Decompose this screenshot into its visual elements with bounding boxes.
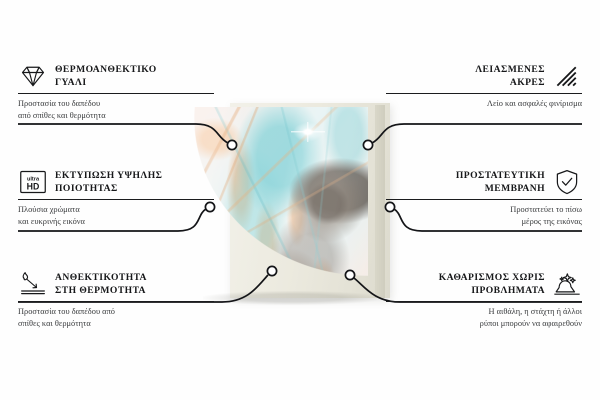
feature-title: ΚΑΘΑΡΙΣΜΟΣ ΧΩΡΙΣ ΠΡΟΒΛΗΜΑΤΑ [439, 271, 545, 297]
title-line-1: ΚΑΘΑΡΙΣΜΟΣ ΧΩΡΙΣ [439, 271, 545, 284]
diamond-icon [18, 62, 48, 90]
subtitle-line-1: Προστατεύει το πίσω [386, 204, 582, 216]
feature-subtitle: Προστασία του δαπέδου από σπίθες και θερ… [18, 98, 214, 122]
feature-header: ultra HD ΕΚΤΥΠΩΣΗ ΥΨΗΛΗΣ ΠΟΙΟΤΗΤΑΣ [18, 168, 214, 196]
subtitle-line-1: Πλούσια χρώματα [18, 204, 214, 216]
feature-subtitle: Προστασία του δαπέδου από σπίθες και θερ… [18, 306, 214, 330]
flame-deflect-icon [18, 270, 48, 298]
divider [386, 199, 582, 200]
shield-check-icon [552, 168, 582, 196]
feature-subtitle: Η αιθάλη, η στάχτη ή άλλοι ρύποι μπορούν… [386, 306, 582, 330]
feature-smoothed-edges: ΛΕΙΑΣΜΕΝΕΣ ΑΚΡΕΣ Λείο και ασφαλές φινίρι… [386, 62, 582, 110]
panel-backing-edge [375, 105, 385, 298]
title-line-2: ΜΕΜΒΡΑΝΗ [485, 182, 545, 195]
subtitle-line-2: και ευκρινής εικόνα [18, 216, 214, 228]
glare-highlight-icon [291, 121, 325, 143]
feature-title: ΠΡΟΣΤΑΤΕΥΤΙΚΗ ΜΕΜΒΡΑΝΗ [456, 169, 545, 195]
feature-title: ΑΝΘΕΚΤΙΚΟΤΗΤΑ ΣΤΗ ΘΕΡΜΟΤΗΤΑ [55, 271, 147, 297]
infographic-canvas: ΘΕΡΜΟΑΝΘΕΚΤΙΚΟ ΓΥΑΛΙ Προστασία του δαπέδ… [0, 0, 600, 400]
ultra-hd-icon: ultra HD [18, 168, 48, 196]
title-line-2: ΑΚΡΕΣ [510, 76, 545, 89]
title-line-1: ΑΝΘΕΚΤΙΚΟΤΗΤΑ [55, 271, 147, 284]
feature-easy-cleaning: ΚΑΘΑΡΙΣΜΟΣ ΧΩΡΙΣ ΠΡΟΒΛΗΜΑΤΑ Η αιθάλη, η … [386, 270, 582, 330]
sponge-sparkle-icon [552, 270, 582, 298]
divider [18, 301, 214, 302]
subtitle-line-2: ρύποι μπορούν να αφαιρεθούν [386, 318, 582, 330]
title-line-2: ΓΥΑΛΙ [55, 76, 157, 89]
divider [18, 93, 214, 94]
subtitle-line-2: μέρος της εικόνας [386, 216, 582, 228]
subtitle-line-1: Προστασία του δαπέδου [18, 98, 214, 110]
feature-header: ΘΕΡΜΟΑΝΘΕΚΤΙΚΟ ΓΥΑΛΙ [18, 62, 214, 90]
feature-subtitle: Λείο και ασφαλές φινίρισμα [386, 98, 582, 110]
feature-header: ΠΡΟΣΤΑΤΕΥΤΙΚΗ ΜΕΜΒΡΑΝΗ [386, 168, 582, 196]
divider [386, 93, 582, 94]
diagonal-stripes-icon [552, 62, 582, 90]
title-line-1: ΛΕΙΑΣΜΕΝΕΣ [475, 63, 545, 76]
title-line-1: ΕΚΤΥΠΩΣΗ ΥΨΗΛΗΣ [55, 169, 162, 182]
feature-heat-durability: ΑΝΘΕΚΤΙΚΟΤΗΤΑ ΣΤΗ ΘΕΡΜΟΤΗΤΑ Προστασία το… [18, 270, 214, 330]
subtitle-line-2: από σπίθες και θερμότητα [18, 110, 214, 122]
title-line-2: ΠΡΟΒΛΗΜΑΤΑ [472, 284, 545, 297]
feature-subtitle: Πλούσια χρώματα και ευκρινής εικόνα [18, 204, 214, 228]
svg-text:HD: HD [27, 181, 40, 191]
subtitle-line-1: Λείο και ασφαλές φινίρισμα [386, 98, 582, 110]
title-line-1: ΠΡΟΣΤΑΤΕΥΤΙΚΗ [456, 169, 545, 182]
feature-subtitle: Προστατεύει το πίσω μέρος της εικόνας [386, 204, 582, 228]
panel-shadow [203, 291, 381, 305]
subtitle-line-1: Η αιθάλη, η στάχτη ή άλλοι [386, 306, 582, 318]
feature-header: ΚΑΘΑΡΙΣΜΟΣ ΧΩΡΙΣ ΠΡΟΒΛΗΜΑΤΑ [386, 270, 582, 298]
title-line-1: ΘΕΡΜΟΑΝΘΕΚΤΙΚΟ [55, 63, 157, 76]
title-line-2: ΣΤΗ ΘΕΡΜΟΤΗΤΑ [55, 284, 147, 297]
divider [18, 199, 214, 200]
feature-heat-resistant-glass: ΘΕΡΜΟΑΝΘΕΚΤΙΚΟ ΓΥΑΛΙ Προστασία του δαπέδ… [18, 62, 214, 122]
feature-protective-membrane: ΠΡΟΣΤΑΤΕΥΤΙΚΗ ΜΕΜΒΡΑΝΗ Προστατεύει το πί… [386, 168, 582, 228]
subtitle-line-1: Προστασία του δαπέδου από [18, 306, 214, 318]
divider [386, 301, 582, 302]
feature-header: ΑΝΘΕΚΤΙΚΟΤΗΤΑ ΣΤΗ ΘΕΡΜΟΤΗΤΑ [18, 270, 214, 298]
feature-high-quality-print: ultra HD ΕΚΤΥΠΩΣΗ ΥΨΗΛΗΣ ΠΟΙΟΤΗΤΑΣ Πλούσ… [18, 168, 214, 228]
title-line-2: ΠΟΙΟΤΗΤΑΣ [55, 182, 162, 195]
feature-title: ΛΕΙΑΣΜΕΝΕΣ ΑΚΡΕΣ [475, 63, 545, 89]
subtitle-line-2: σπίθες και θερμότητα [18, 318, 214, 330]
feature-header: ΛΕΙΑΣΜΕΝΕΣ ΑΚΡΕΣ [386, 62, 582, 90]
feature-title: ΘΕΡΜΟΑΝΘΕΚΤΙΚΟ ΓΥΑΛΙ [55, 63, 157, 89]
feature-title: ΕΚΤΥΠΩΣΗ ΥΨΗΛΗΣ ΠΟΙΟΤΗΤΑΣ [55, 169, 162, 195]
